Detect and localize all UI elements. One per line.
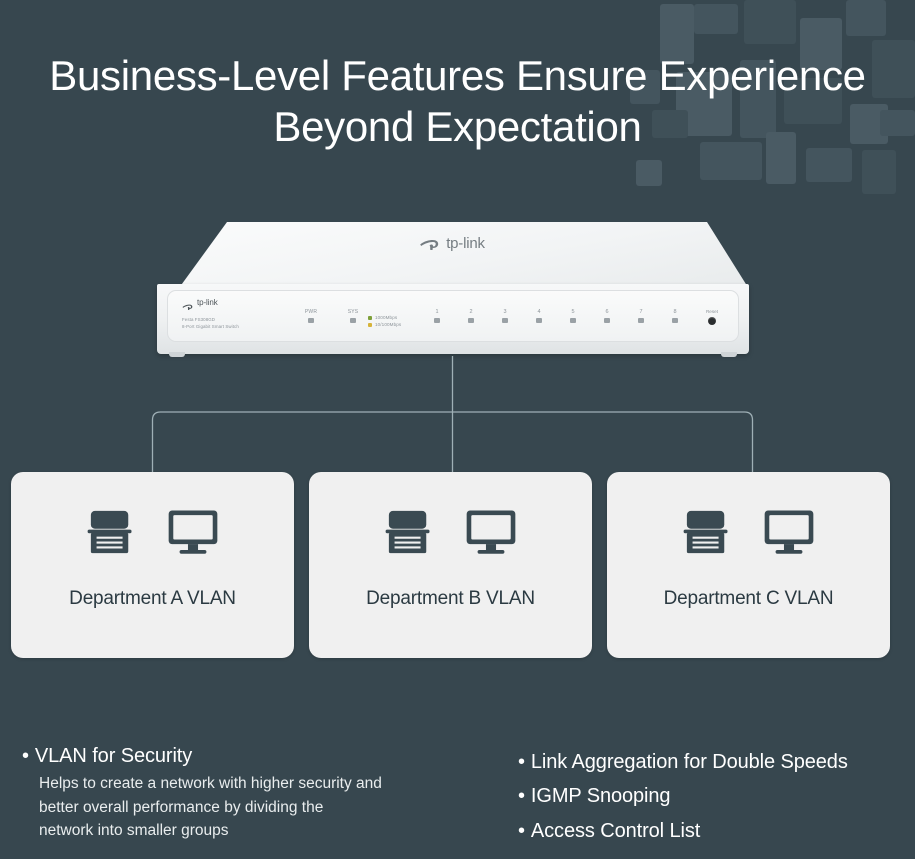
feature-list-left-column: •VLAN for Security Helps to create a net… [22,745,472,843]
tp-link-wordmark-top: tp-link [446,235,485,252]
product-feature-banner: Business-Level Features Ensure Experienc… [0,0,915,859]
switch-front-panel: tp-link Festa FS308GD 8-Port Gigabit Sma… [157,284,749,354]
printer-icon [682,509,734,560]
port-number-6: 6 [602,309,612,315]
feature-link-aggregation-text: Link Aggregation for Double Speeds [531,751,848,773]
status-led-sys: SYS [342,309,364,323]
feature-list: •VLAN for Security Helps to create a net… [0,745,915,859]
feature-access-control-list: •Access Control List [518,814,908,848]
port-indicator-7: 7 [636,309,646,323]
speed-legend: 1000Mbps 10/100Mbps [368,315,401,329]
port-number-2: 2 [466,309,476,315]
bullet-icon: • [518,820,525,842]
port-indicator-3: 3 [500,309,510,323]
network-switch-device: tp-link tp-link Festa FS308GD 8-Port G [152,222,752,362]
port-number-7: 7 [636,309,646,315]
port-indicator-4: 4 [534,309,544,323]
feature-access-control-list-text: Access Control List [531,820,700,842]
port-led-8 [672,318,678,323]
speed-legend-label-10-100: 10/100Mbps [375,322,401,327]
status-led-sys-indicator [350,318,356,323]
port-number-8: 8 [670,309,680,315]
switch-model-name: Festa FS308GD [182,317,239,324]
tp-link-mark-icon-front [182,298,194,307]
speed-legend-swatch-green [368,316,372,320]
port-indicator-2: 2 [466,309,476,323]
tp-link-wordmark-front: tp-link [197,298,218,307]
vlan-card-department-b[interactable]: Department B VLAN [309,472,592,658]
bullet-icon: • [518,751,525,773]
speed-legend-swatch-amber [368,323,372,327]
port-number-3: 3 [500,309,510,315]
port-indicator-1: 1 [432,309,442,323]
port-led-3 [502,318,508,323]
port-number-1: 1 [432,309,442,315]
reset-control[interactable]: Reset [700,309,724,325]
vlan-card-c-label: Department C VLAN [607,588,890,610]
status-led-pwr-label: PWR [300,309,322,315]
port-indicator-5: 5 [568,309,578,323]
feature-vlan-security-description: Helps to create a network with higher se… [39,772,472,843]
switch-model-label: Festa FS308GD 8-Port Gigabit Smart Switc… [182,317,239,331]
feature-vlan-security-title: •VLAN for Security [22,745,472,768]
feature-description-line-2: better overall performance by dividing t… [39,796,472,820]
page-title-line-1: Business-Level Features Ensure Experienc… [0,50,915,101]
status-led-pwr: PWR [300,309,322,323]
port-led-7 [638,318,644,323]
feature-list-right-column: •Link Aggregation for Double Speeds •IGM… [518,745,908,848]
monitor-icon [762,508,816,560]
port-indicator-6: 6 [602,309,612,323]
switch-model-description: 8-Port Gigabit Smart Switch [182,324,239,331]
reset-label: Reset [700,309,724,314]
speed-legend-row-1000: 1000Mbps [368,315,401,320]
port-led-4 [536,318,542,323]
page-title-line-2: Beyond Expectation [0,101,915,152]
page-title: Business-Level Features Ensure Experienc… [0,50,915,152]
reset-button[interactable] [708,317,716,325]
tp-link-mark-icon [419,236,441,251]
speed-legend-row-10-100: 10/100Mbps [368,322,401,327]
port-number-4: 4 [534,309,544,315]
vlan-card-b-label: Department B VLAN [309,588,592,610]
port-led-6 [604,318,610,323]
port-led-5 [570,318,576,323]
port-led-1 [434,318,440,323]
feature-description-line-3: network into smaller groups [39,819,472,843]
tp-link-logo-front: tp-link [182,298,218,307]
bullet-icon: • [518,785,525,807]
printer-icon [86,509,138,560]
bullet-icon: • [22,745,29,767]
port-number-5: 5 [568,309,578,315]
monitor-icon [464,508,518,560]
vlan-card-b-icons [309,508,592,560]
feature-igmp-snooping-text: IGMP Snooping [531,785,671,807]
ethernet-port-led-row: 1 2 3 4 5 [432,309,680,323]
feature-link-aggregation: •Link Aggregation for Double Speeds [518,745,908,779]
port-led-2 [468,318,474,323]
port-indicator-8: 8 [670,309,680,323]
printer-icon [384,509,436,560]
switch-panel-inset: tp-link Festa FS308GD 8-Port Gigabit Sma… [167,290,739,342]
vlan-card-department-a[interactable]: Department A VLAN [11,472,294,658]
switch-foot-left [169,352,185,357]
vlan-card-a-label: Department A VLAN [11,588,294,610]
monitor-icon [166,508,220,560]
tp-link-logo-top: tp-link [419,235,485,252]
status-led-pwr-indicator [308,318,314,323]
vlan-card-department-c[interactable]: Department C VLAN [607,472,890,658]
feature-igmp-snooping: •IGMP Snooping [518,779,908,813]
network-connector-lines [0,356,915,486]
vlan-card-a-icons [11,508,294,560]
vlan-card-c-icons [607,508,890,560]
status-led-sys-label: SYS [342,309,364,315]
feature-description-line-1: Helps to create a network with higher se… [39,772,472,796]
speed-legend-label-1000: 1000Mbps [375,315,397,320]
feature-vlan-security-title-text: VLAN for Security [35,745,192,767]
switch-top-surface: tp-link [152,222,752,288]
switch-foot-right [721,352,737,357]
